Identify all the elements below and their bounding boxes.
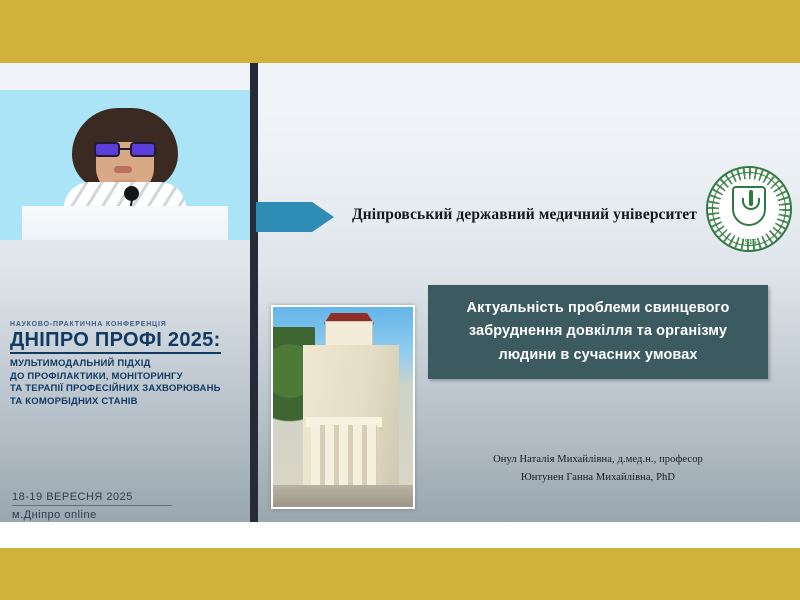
top-gold-banner [0,0,800,63]
conference-subtitle-line: МУЛЬТИМОДАЛЬНИЙ ПІДХІД [10,358,242,371]
glasses-right-lens [130,142,156,157]
left-panel: НАУКОВО-ПРАКТИЧНА КОНФЕРЕНЦІЯ ДНІПРО ПРО… [0,63,250,522]
photo-ground [273,485,415,507]
conference-date-block: 18-19 ВЕРЕСНЯ 2025 м.Дніпро online [12,491,192,521]
slide-title-line: людини в сучасних умовах [442,344,754,367]
presentation-screen: НАУКОВО-ПРАКТИЧНА КОНФЕРЕНЦІЯ ДНІПРО ПРО… [0,0,800,600]
conference-place: м.Дніпро online [12,509,192,521]
university-header: Дніпровський державний медичний універси… [352,206,702,224]
slide-title-line: забруднення довкілля та організму [442,320,754,343]
conference-subtitle-line: ТА ТЕРАПІЇ ПРОФЕСІЙНИХ ЗАХВОРЮВАНЬ [10,383,242,396]
microphone-icon [124,186,139,201]
author-line: Юнтунен Ганна Михайлівна, PhD [430,469,766,487]
conference-name: ДНІПРО ПРОФІ 2025: [10,330,221,354]
conference-date: 18-19 ВЕРЕСНЯ 2025 [12,491,172,506]
emblem-shield [732,186,766,226]
conference-subtitle-line: ТА КОМОРБІДНИХ СТАНІВ [10,396,242,409]
conference-logo: НАУКОВО-ПРАКТИЧНА КОНФЕРЕНЦІЯ ДНІПРО ПРО… [10,321,242,408]
presenter-fringe [90,116,160,142]
authors-block: Онул Наталія Михайлівна, д.мед.н., профе… [430,451,766,488]
podium [22,206,228,240]
conference-subtitle: МУЛЬТИМОДАЛЬНИЙ ПІДХІД ДО ПРОФІЛАКТИКИ, … [10,358,242,408]
author-line: Онул Наталія Михайлівна, д.мед.н., профе… [430,451,766,469]
glasses-icon [94,142,156,157]
slide-canvas: НАУКОВО-ПРАКТИЧНА КОНФЕРЕНЦІЯ ДНІПРО ПРО… [0,63,800,522]
glasses-bridge [120,148,130,150]
conference-kicker: НАУКОВО-ПРАКТИЧНА КОНФЕРЕНЦІЯ [10,321,242,328]
university-building-photo [271,305,415,509]
presenter-video-feed[interactable] [0,90,250,240]
glasses-left-lens [94,142,120,157]
presenter-mouth [114,166,132,173]
bottom-gold-banner [0,548,800,600]
photo-building-columns [311,425,377,491]
slide-title-box: Актуальність проблеми свинцевого забрудн… [428,285,768,379]
conference-subtitle-line: ДО ПРОФІЛАКТИКИ, МОНІТОРИНГУ [10,371,242,384]
university-emblem-icon: 1916 [706,166,792,252]
arrow-right-icon [256,202,334,232]
emblem-bowl-icon [742,198,760,210]
emblem-year: 1916 [706,238,792,246]
slide-title-line: Актуальність проблеми свинцевого [442,297,754,320]
vertical-divider [250,63,258,522]
